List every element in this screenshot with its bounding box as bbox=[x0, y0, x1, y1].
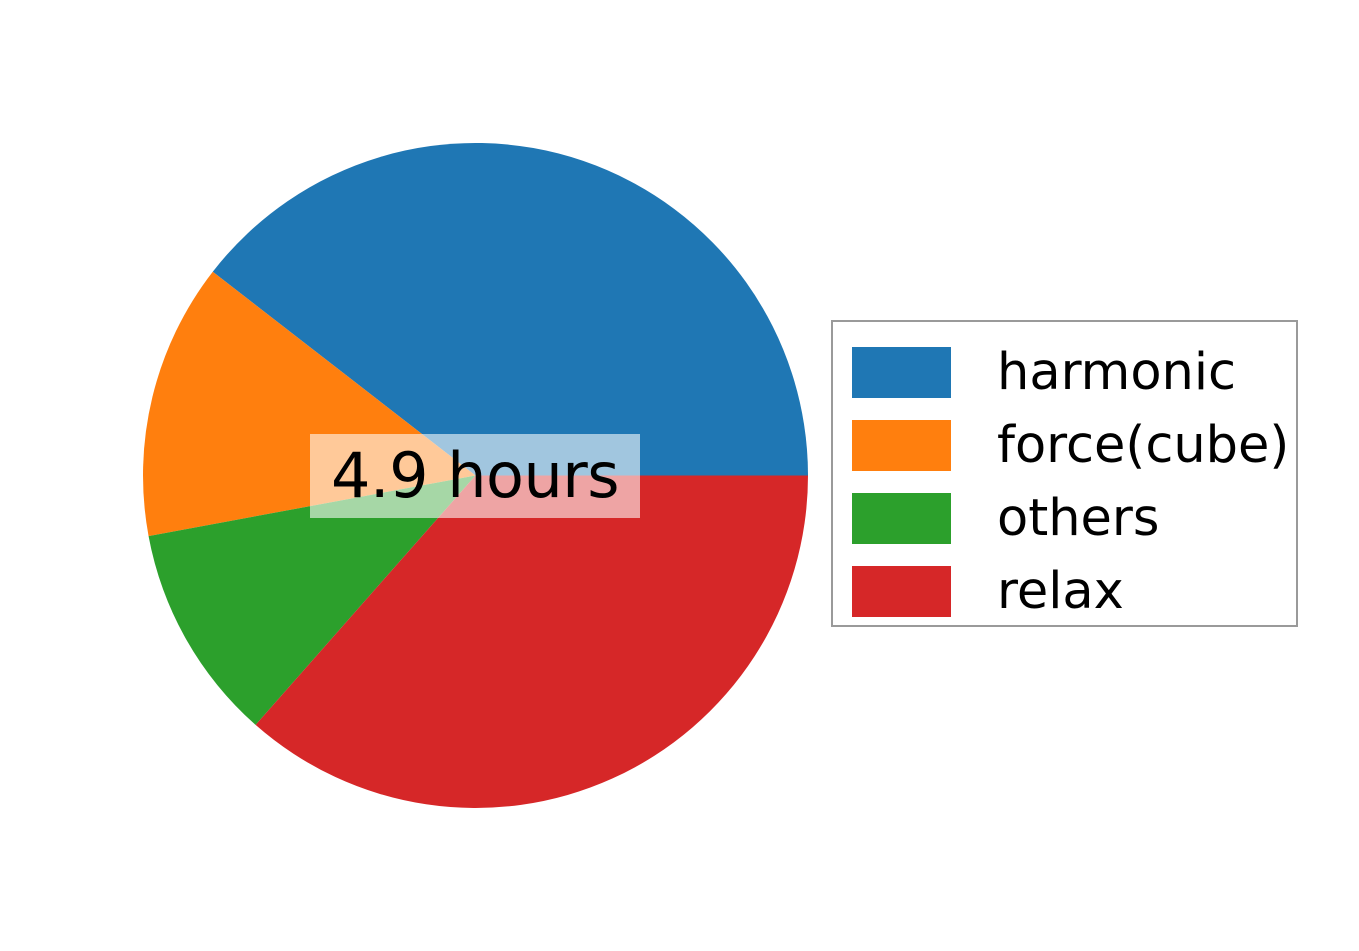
chart-legend: harmonic force(cube) others relax bbox=[831, 320, 1298, 627]
legend-item-relax[interactable]: relax bbox=[852, 564, 1296, 618]
legend-label-relax: relax bbox=[997, 566, 1124, 617]
legend-item-others[interactable]: others bbox=[852, 491, 1296, 545]
center-annotation-box: 4.9 hours bbox=[310, 434, 640, 518]
legend-label-harmonic: harmonic bbox=[997, 347, 1236, 398]
pie-chart-figure: 4.9 hours harmonic force(cube) others re… bbox=[0, 0, 1359, 951]
legend-swatch-others bbox=[852, 493, 951, 544]
center-annotation-text: 4.9 hours bbox=[331, 445, 619, 507]
legend-swatch-force-cube bbox=[852, 420, 951, 471]
legend-swatch-relax bbox=[852, 566, 951, 617]
legend-label-others: others bbox=[997, 493, 1159, 544]
legend-item-harmonic[interactable]: harmonic bbox=[852, 345, 1296, 399]
legend-swatch-harmonic bbox=[852, 347, 951, 398]
legend-label-force-cube: force(cube) bbox=[997, 420, 1289, 471]
legend-item-force-cube[interactable]: force(cube) bbox=[852, 418, 1296, 472]
